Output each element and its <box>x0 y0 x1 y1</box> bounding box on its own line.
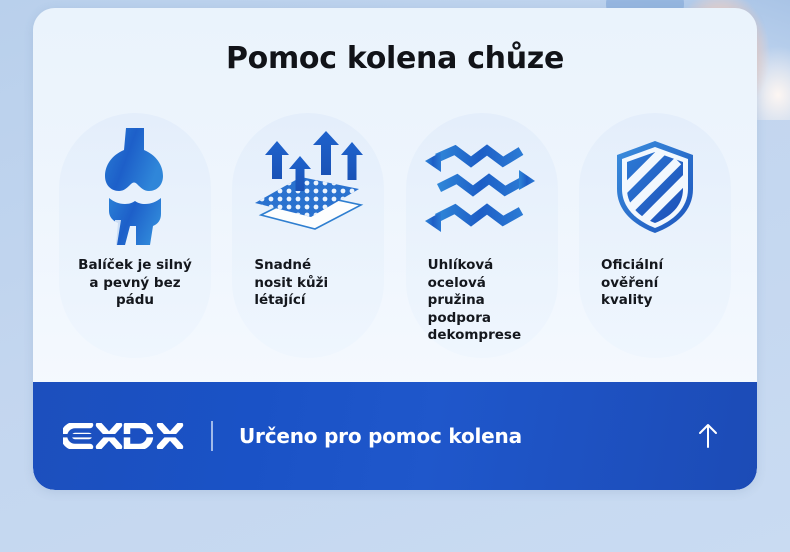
feature-icon-slot <box>406 113 558 257</box>
scroll-to-top-button[interactable] <box>693 421 723 451</box>
brand-bar: Určeno pro pomoc kolena <box>33 382 757 490</box>
arrow-up-icon <box>697 423 719 449</box>
knee-joint-icon <box>99 128 171 246</box>
feature-item-breathable[interactable]: Snadné nosit kůži létající <box>232 113 384 358</box>
feature-item-knee-support[interactable]: Balíček je silný a pevný bez pádu <box>59 113 211 358</box>
feature-list: Balíček je silný a pevný bez pádu <box>59 113 731 358</box>
divider <box>211 421 213 451</box>
feature-item-spring-decompression[interactable]: Uhlíková ocelová pružina podpora dekompr… <box>406 113 558 358</box>
exdx-logo-icon <box>63 419 189 453</box>
exdx-logo[interactable] <box>63 419 189 453</box>
spring-wave-arrows-icon <box>423 142 541 232</box>
product-feature-card: Pomoc kolena chůze <box>33 8 757 490</box>
feature-caption: Snadné nosit kůži létající <box>232 257 384 310</box>
feature-caption: Uhlíková ocelová pružina podpora dekompr… <box>406 257 558 345</box>
feature-icon-slot <box>232 113 384 257</box>
feature-caption: Oficiální ověření kvality <box>579 257 731 310</box>
brand-tagline: Určeno pro pomoc kolena <box>239 424 522 448</box>
quality-shield-icon <box>609 137 701 237</box>
breathable-fabric-arrows-icon <box>249 131 367 243</box>
feature-caption: Balíček je silný a pevný bez pádu <box>59 257 211 310</box>
feature-item-quality-certified[interactable]: Oficiální ověření kvality <box>579 113 731 358</box>
feature-icon-slot <box>579 113 731 257</box>
feature-icon-slot <box>59 113 211 257</box>
page-title: Pomoc kolena chůze <box>33 8 757 76</box>
